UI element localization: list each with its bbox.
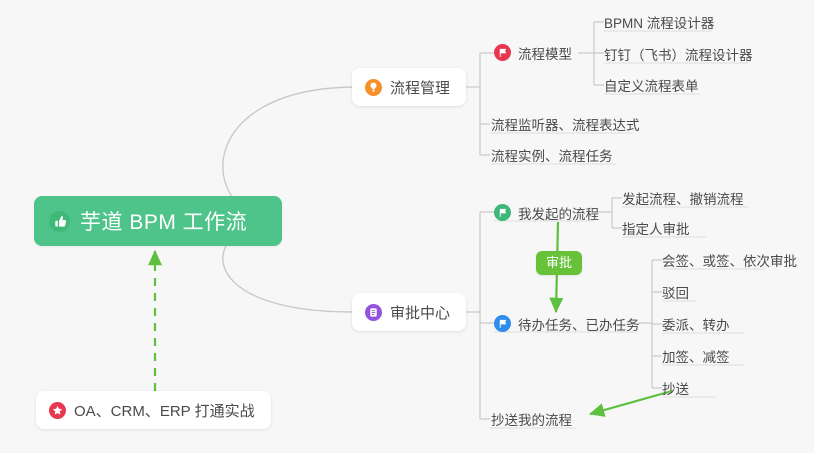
node-todo-done-tasks[interactable]: 待办任务、已办任务 <box>494 314 640 333</box>
node-process-instance[interactable]: 流程实例、流程任务 <box>491 145 613 164</box>
node-reject-label: 驳回 <box>662 282 689 302</box>
node-start-cancel-process-label: 发起流程、撤销流程 <box>622 188 744 208</box>
node-bpmn-designer[interactable]: BPMN 流程设计器 <box>604 12 714 31</box>
root-node[interactable]: 芋道 BPM 工作流 <box>34 196 282 246</box>
callout-card-oa-crm-erp[interactable]: OA、CRM、ERP 打通实战 <box>36 391 271 429</box>
node-delegate-transfer-label: 委派、转办 <box>662 314 730 334</box>
node-custom-process-form-label: 自定义流程表单 <box>604 75 699 95</box>
root-node-label: 芋道 BPM 工作流 <box>80 206 247 236</box>
node-assignee-approval-label: 指定人审批 <box>622 218 690 238</box>
lightbulb-icon <box>365 79 382 96</box>
branch-node-approval-center[interactable]: 审批中心 <box>352 293 466 331</box>
node-process-listener-label: 流程监听器、流程表达式 <box>491 114 640 134</box>
node-assignee-approval[interactable]: 指定人审批 <box>622 218 690 237</box>
node-cc-to-me-label: 抄送我的流程 <box>491 409 572 429</box>
star-icon <box>49 402 66 419</box>
clipboard-icon <box>365 304 382 321</box>
node-dingtalk-feishu-designer-label: 钉钉（飞书）流程设计器 <box>604 44 753 64</box>
node-process-instance-label: 流程实例、流程任务 <box>491 145 613 165</box>
node-process-model-label: 流程模型 <box>518 43 572 63</box>
approval-badge: 审批 <box>536 251 582 275</box>
branch-node-process-mgmt[interactable]: 流程管理 <box>352 68 466 106</box>
mindmap-canvas: 芋道 BPM 工作流 流程管理 流程模型 BPMN 流程设计器 钉钉（飞书）流程… <box>0 0 814 453</box>
node-my-started-process[interactable]: 我发起的流程 <box>494 203 599 222</box>
callout-card-label: OA、CRM、ERP 打通实战 <box>74 400 255 421</box>
node-reject[interactable]: 驳回 <box>662 282 689 301</box>
approval-badge-label: 审批 <box>546 255 572 270</box>
branch-node-process-mgmt-label: 流程管理 <box>390 77 450 98</box>
node-dingtalk-feishu-designer[interactable]: 钉钉（飞书）流程设计器 <box>604 44 753 63</box>
arrow-cc-to-cc-to-me <box>590 391 672 414</box>
branch-node-approval-center-label: 审批中心 <box>390 302 450 323</box>
node-delegate-transfer[interactable]: 委派、转办 <box>662 314 730 333</box>
node-process-model[interactable]: 流程模型 <box>494 43 572 62</box>
node-countersign-label: 会签、或签、依次审批 <box>662 250 797 270</box>
node-cc[interactable]: 抄送 <box>662 378 689 397</box>
node-process-listener[interactable]: 流程监听器、流程表达式 <box>491 114 640 133</box>
flag-icon <box>494 315 511 332</box>
node-custom-process-form[interactable]: 自定义流程表单 <box>604 75 699 94</box>
thumbs-up-icon <box>48 210 71 233</box>
node-cc-label: 抄送 <box>662 378 689 398</box>
node-add-remove-sign[interactable]: 加签、减签 <box>662 346 730 365</box>
node-start-cancel-process[interactable]: 发起流程、撤销流程 <box>622 188 744 207</box>
node-todo-done-tasks-label: 待办任务、已办任务 <box>518 314 640 334</box>
node-add-remove-sign-label: 加签、减签 <box>662 346 730 366</box>
node-countersign[interactable]: 会签、或签、依次审批 <box>662 250 797 269</box>
flag-icon <box>494 204 511 221</box>
node-bpmn-designer-label: BPMN 流程设计器 <box>604 12 714 32</box>
node-my-started-process-label: 我发起的流程 <box>518 203 599 223</box>
flag-icon <box>494 44 511 61</box>
node-cc-to-me[interactable]: 抄送我的流程 <box>491 409 572 428</box>
